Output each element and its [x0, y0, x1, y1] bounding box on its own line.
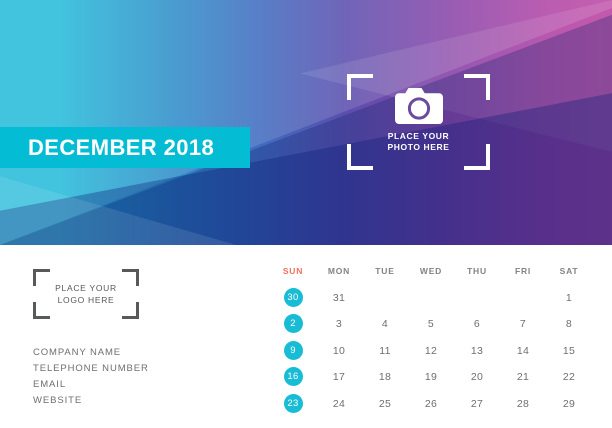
lower-section: PLACE YOUR LOGO HERE COMPANY NAME TELEPH…: [0, 245, 612, 428]
calendar-day-number: 22: [563, 371, 575, 383]
calendar-day-number: 23: [284, 394, 303, 413]
day-header-sat: SAT: [560, 266, 579, 276]
logo-placeholder[interactable]: PLACE YOUR LOGO HERE: [33, 269, 139, 319]
calendar-day-number: 27: [471, 398, 483, 410]
calendar-day-cell[interactable]: 25: [362, 394, 408, 412]
calendar-day-cell[interactable]: 17: [316, 367, 362, 385]
calendar-day-number: 31: [333, 292, 345, 304]
calendar-day-cell[interactable]: 21: [500, 367, 546, 385]
calendar-day-cell[interactable]: 11: [362, 341, 408, 359]
calendar-day-cell[interactable]: 5: [408, 314, 454, 332]
photo-caption-line-2: PHOTO HERE: [347, 142, 490, 153]
calendar-day-cell[interactable]: 1: [546, 288, 592, 306]
calendar-day-number: 3: [336, 318, 342, 330]
logo-caption-line-1: PLACE YOUR: [33, 282, 139, 294]
photo-bracket-top-left: [347, 74, 373, 100]
calendar-day-number: 26: [425, 398, 437, 410]
calendar-day-cell[interactable]: 20: [454, 367, 500, 385]
calendar-day-cell[interactable]: 26: [408, 394, 454, 412]
day-header-cell: FRI: [500, 261, 546, 279]
month-title-bar: DECEMBER 2018: [0, 127, 250, 168]
calendar-day-cell[interactable]: 28: [500, 394, 546, 412]
calendar-day-cell[interactable]: 19: [408, 367, 454, 385]
calendar-day-cell[interactable]: 16: [270, 366, 316, 386]
calendar-day-number: 20: [471, 371, 483, 383]
calendar-day-cell[interactable]: 14: [500, 341, 546, 359]
calendar-day-cell[interactable]: 4: [362, 314, 408, 332]
day-header-wed: WED: [420, 266, 442, 276]
calendar-day-number: 16: [284, 367, 303, 386]
calendar-day-cell[interactable]: 15: [546, 341, 592, 359]
calendar-day-number: 8: [566, 318, 572, 330]
day-header-cell: MON: [316, 261, 362, 279]
calendar-day-number: 30: [284, 288, 303, 307]
day-header-mon: MON: [328, 266, 350, 276]
camera-icon: [391, 84, 447, 128]
calendar-day-cell[interactable]: 7: [500, 314, 546, 332]
photo-caption-line-1: PLACE YOUR: [347, 131, 490, 142]
day-header-tue: TUE: [375, 266, 394, 276]
contact-telephone-number: TELEPHONE NUMBER: [33, 361, 149, 377]
calendar-day-number: 28: [517, 398, 529, 410]
calendar-week-row: 23242526272829: [270, 390, 592, 417]
contact-website: WEBSITE: [33, 393, 149, 409]
month-title: DECEMBER 2018: [28, 135, 214, 161]
calendar-day-cell[interactable]: 30: [270, 287, 316, 307]
calendar-day-number: 21: [517, 371, 529, 383]
calendar-day-number: 15: [563, 345, 575, 357]
calendar-day-cell[interactable]: 23: [270, 393, 316, 413]
calendar-day-number: 2: [284, 314, 303, 333]
calendar-day-cell[interactable]: 29: [546, 394, 592, 412]
calendar-day-number: 7: [520, 318, 526, 330]
calendar-week-row: 2345678: [270, 310, 592, 337]
calendar-week-row: 9101112131415: [270, 337, 592, 364]
day-header-cell: SAT: [546, 261, 592, 279]
calendar-day-cell[interactable]: 22: [546, 367, 592, 385]
calendar-week-row: 30311: [270, 284, 592, 311]
calendar-day-cell[interactable]: 9: [270, 340, 316, 360]
calendar-day-number: 9: [284, 341, 303, 360]
logo-placeholder-caption: PLACE YOUR LOGO HERE: [33, 282, 139, 306]
calendar-header-row: SUN MON TUE WED THU FRI SAT: [270, 257, 592, 284]
calendar-day-cell[interactable]: 2: [270, 313, 316, 333]
photo-placeholder[interactable]: PLACE YOUR PHOTO HERE: [347, 74, 490, 170]
calendar-day-number: 14: [517, 345, 529, 357]
calendar-day-number: 29: [563, 398, 575, 410]
logo-caption-line-2: LOGO HERE: [33, 294, 139, 306]
calendar-day-number: 17: [333, 371, 345, 383]
photo-bracket-top-right: [464, 74, 490, 100]
calendar-day-cell[interactable]: 12: [408, 341, 454, 359]
hero-banner: DECEMBER 2018 PLACE YOUR PHOTO HERE: [0, 0, 612, 245]
calendar-day-cell[interactable]: 10: [316, 341, 362, 359]
calendar-day-cell[interactable]: 27: [454, 394, 500, 412]
calendar-day-number: 24: [333, 398, 345, 410]
calendar-day-number: 18: [379, 371, 391, 383]
calendar-day-cell[interactable]: 8: [546, 314, 592, 332]
calendar-day-number: 13: [471, 345, 483, 357]
day-header-cell: WED: [408, 261, 454, 279]
calendar-day-cell[interactable]: 31: [316, 288, 362, 306]
calendar-day-cell[interactable]: 13: [454, 341, 500, 359]
day-header-cell: TUE: [362, 261, 408, 279]
calendar-day-number: 1: [566, 292, 572, 304]
contact-email: EMAIL: [33, 377, 149, 393]
calendar-day-number: 19: [425, 371, 437, 383]
day-header-thu: THU: [467, 266, 487, 276]
calendar-day-number: 6: [474, 318, 480, 330]
day-header-fri: FRI: [515, 266, 531, 276]
day-header-cell: SUN: [270, 261, 316, 279]
calendar-day-number: 4: [382, 318, 388, 330]
calendar-day-number: 5: [428, 318, 434, 330]
calendar-weeks: 3031123456789101112131415161718192021222…: [270, 284, 592, 417]
calendar-day-number: 11: [379, 345, 391, 357]
calendar-day-cell[interactable]: 6: [454, 314, 500, 332]
calendar-week-row: 16171819202122: [270, 363, 592, 390]
calendar-day-cell[interactable]: 3: [316, 314, 362, 332]
calendar-grid: SUN MON TUE WED THU FRI SAT 303112345678…: [270, 257, 592, 416]
calendar-day-cell[interactable]: 18: [362, 367, 408, 385]
calendar-day-cell[interactable]: 24: [316, 394, 362, 412]
calendar-day-number: 10: [333, 345, 345, 357]
day-header-sun: SUN: [283, 266, 303, 276]
contact-company-name: COMPANY NAME: [33, 345, 149, 361]
calendar-day-number: 25: [379, 398, 391, 410]
calendar-page: DECEMBER 2018 PLACE YOUR PHOTO HERE: [0, 0, 612, 428]
contact-block: COMPANY NAME TELEPHONE NUMBER EMAIL WEBS…: [33, 345, 149, 409]
photo-placeholder-caption: PLACE YOUR PHOTO HERE: [347, 131, 490, 153]
day-header-cell: THU: [454, 261, 500, 279]
calendar-day-number: 12: [425, 345, 437, 357]
